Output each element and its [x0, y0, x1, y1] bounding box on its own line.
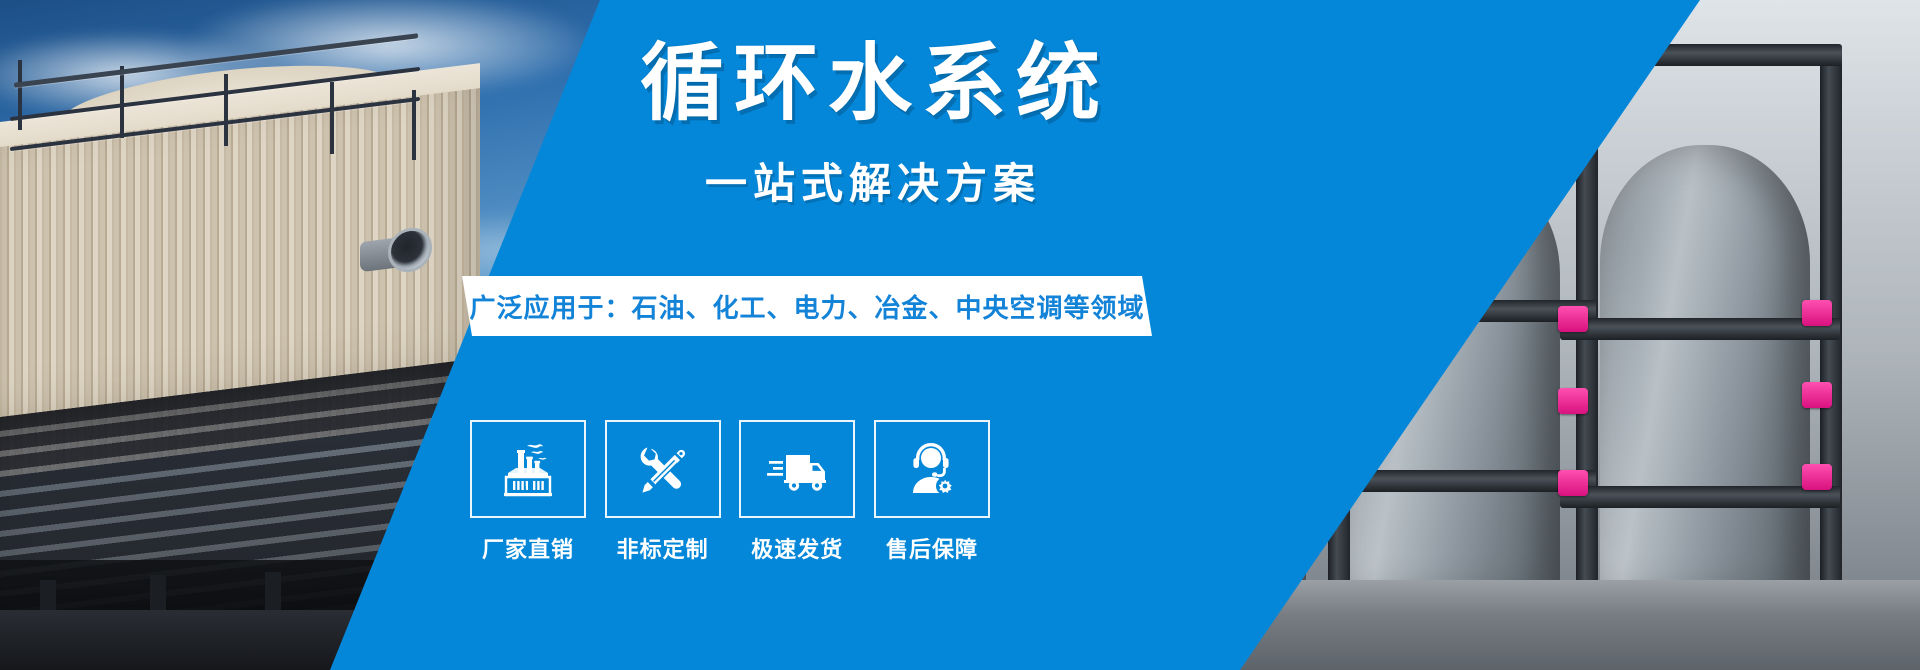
- feature-icon-row: [470, 420, 990, 518]
- valve-handle: [1802, 300, 1832, 326]
- feature-label-shipping: 极速发货: [739, 532, 855, 564]
- valve-handle: [1802, 382, 1832, 408]
- feature-box-custom[interactable]: [605, 420, 721, 518]
- tools-icon: [630, 439, 696, 499]
- page-title: 循环水系统: [600, 38, 1140, 129]
- feature-box-support[interactable]: [874, 420, 990, 518]
- truck-icon: [764, 439, 830, 499]
- headset-icon: [899, 439, 965, 499]
- promo-banner: 循环水系统 一站式解决方案 广泛应用于：石油、化工、电力、冶金、中央空调等领域: [0, 0, 1920, 670]
- page-subtitle: 一站式解决方案: [600, 150, 1140, 211]
- feature-label-support: 售后保障: [874, 532, 990, 564]
- valve-handle: [1802, 464, 1832, 490]
- feature-box-shipping[interactable]: [739, 420, 855, 518]
- valve-handle: [1558, 470, 1588, 496]
- factory-icon: [495, 439, 561, 499]
- application-bar-text: 广泛应用于：石油、化工、电力、冶金、中央空调等领域: [462, 276, 1152, 336]
- feature-label-custom: 非标定制: [605, 532, 721, 564]
- feature-box-factory[interactable]: [470, 420, 586, 518]
- feature-label-factory: 厂家直销: [470, 532, 586, 564]
- valve-handle: [1558, 306, 1588, 332]
- feature-label-row: 厂家直销 非标定制 极速发货 售后保障: [470, 532, 990, 564]
- valve-handle: [1558, 388, 1588, 414]
